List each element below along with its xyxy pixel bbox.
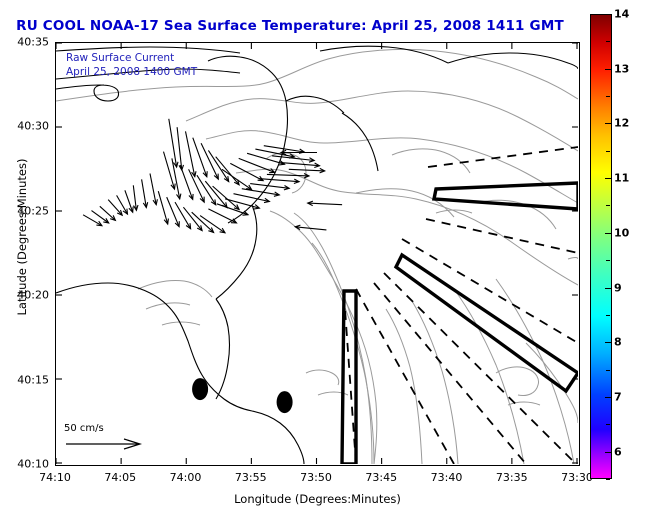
- figure-title: RU COOL NOAA-17 Sea Surface Temperature:…: [0, 18, 580, 34]
- colorbar-tick-label: 9: [614, 281, 622, 294]
- y-tick-label: 40:15: [5, 373, 49, 386]
- colorbar: [590, 14, 612, 479]
- colorbar-tick-label: 13: [614, 62, 629, 75]
- y-tick-label: 40:30: [5, 120, 49, 133]
- x-tick-label: 73:30: [561, 471, 593, 484]
- colorbar-tick-label: 8: [614, 336, 622, 349]
- current-vector-field: [83, 119, 342, 233]
- x-tick-label: 73:45: [365, 471, 397, 484]
- x-tick-label: 73:50: [300, 471, 332, 484]
- colorbar-minor-tick: [606, 424, 610, 425]
- station-marker: [192, 378, 208, 400]
- current-vector: [164, 152, 175, 190]
- colorbar-tick-label: 11: [614, 172, 629, 185]
- colorbar-minor-tick: [606, 370, 610, 371]
- colorbar-minor-tick: [606, 397, 610, 398]
- current-vector: [281, 163, 320, 166]
- scale-key: 50 cm/s: [64, 423, 156, 455]
- colorbar-minor-tick: [606, 151, 610, 152]
- sst-contours: [56, 49, 578, 464]
- colorbar-minor-tick: [606, 233, 610, 234]
- current-vector: [193, 138, 207, 177]
- x-tick-label: 74:05: [104, 471, 136, 484]
- scale-key-label: 50 cm/s: [64, 423, 156, 434]
- current-vector: [242, 189, 279, 195]
- colorbar-minor-tick: [606, 452, 610, 453]
- current-vector: [308, 203, 342, 205]
- colorbar-tick-label: 14: [614, 8, 629, 21]
- current-vector: [158, 191, 167, 224]
- colorbar-tick-label: 10: [614, 226, 629, 239]
- map-canvas: [56, 43, 578, 464]
- axis-tick-marks: [56, 43, 578, 464]
- current-vector: [150, 174, 156, 205]
- colorbar-minor-tick: [606, 315, 610, 316]
- x-tick-label: 73:35: [496, 471, 528, 484]
- colorbar-minor-tick: [606, 178, 610, 179]
- current-vector: [250, 184, 289, 189]
- current-vector: [167, 197, 179, 227]
- colorbar-minor-tick: [606, 288, 610, 289]
- current-vector: [247, 153, 284, 164]
- x-tick-label: 73:55: [235, 471, 267, 484]
- colorbar-minor-tick: [606, 342, 610, 343]
- current-vector: [208, 209, 236, 223]
- x-tick-label: 74:00: [170, 471, 202, 484]
- colorbar-minor-tick: [606, 260, 610, 261]
- survey-transect-boxes: [342, 183, 578, 464]
- y-axis-label: Latitude (Degrees:Minutes): [15, 137, 29, 337]
- current-vector: [125, 190, 133, 212]
- colorbar-minor-tick: [606, 41, 610, 42]
- x-tick-label: 73:40: [431, 471, 463, 484]
- y-tick-label: 40:35: [5, 36, 49, 49]
- x-axis-label: Longitude (Degrees:Minutes): [55, 492, 580, 506]
- current-vector: [234, 194, 270, 202]
- current-vector: [217, 204, 248, 215]
- current-vector: [259, 179, 300, 182]
- map-axes: Raw Surface Current April 25, 2008 1400 …: [55, 42, 580, 466]
- current-vector: [289, 169, 325, 171]
- colorbar-minor-tick: [606, 123, 610, 124]
- station-marker: [277, 391, 293, 413]
- colorbar-minor-tick: [606, 69, 610, 70]
- colorbar-minor-tick: [606, 205, 610, 206]
- colorbar-tick-label: 6: [614, 445, 622, 458]
- current-vector: [180, 165, 193, 199]
- sst-map-figure: RU COOL NOAA-17 Sea Surface Temperature:…: [0, 0, 651, 519]
- colorbar-tick-label: 12: [614, 117, 629, 130]
- y-tick-label: 40:10: [5, 458, 49, 471]
- right-arrow-icon: [64, 437, 146, 451]
- colorbar-minor-tick: [606, 479, 610, 480]
- x-tick-label: 74:10: [39, 471, 71, 484]
- colorbar-minor-tick: [606, 14, 610, 15]
- colorbar-tick-label: 7: [614, 390, 622, 403]
- colorbar-minor-tick: [606, 96, 610, 97]
